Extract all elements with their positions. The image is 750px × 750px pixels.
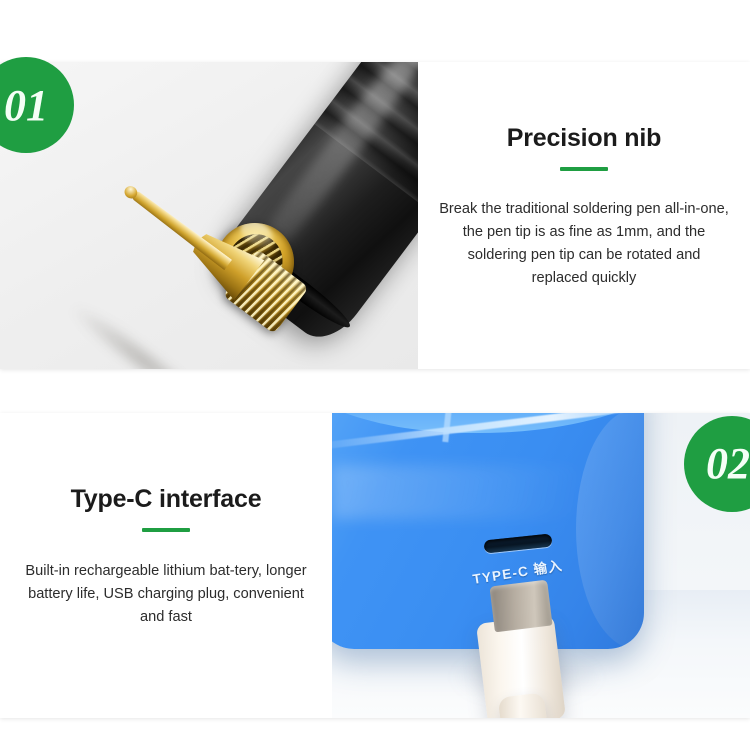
type-c-heading: Type-C interface [18,485,314,514]
tip-needle [124,184,232,270]
precision-nib-text-panel: Precision nib Break the traditional sold… [418,62,750,369]
feature-card-type-c-interface: Type-C interface Built-in rechargeable l… [0,413,750,718]
badge-01-number: 01 [4,84,48,128]
type-c-text-panel: Type-C interface Built-in rechargeable l… [0,413,332,718]
device-sheen [332,465,582,519]
device-corner-highlight [442,413,585,456]
feature-card-precision-nib: Precision nib Break the traditional sold… [0,62,750,369]
heading-divider [142,528,190,532]
device-rounded-corner [576,413,644,649]
heading-divider [560,167,608,171]
precision-nib-description: Break the traditional soldering pen all-… [438,198,730,290]
usb-c-plug-metal [489,580,552,633]
precision-nib-heading: Precision nib [438,124,730,153]
blue-device-body [332,413,644,649]
type-c-description: Built-in rechargeable lithium bat-tery, … [18,560,314,629]
badge-02-number: 02 [706,442,750,486]
